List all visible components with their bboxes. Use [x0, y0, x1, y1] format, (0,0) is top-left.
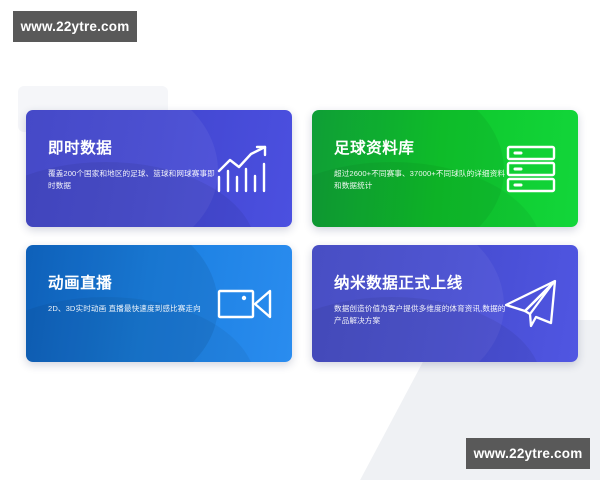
card-live-data[interactable]: 即时数据 覆盖200个国家和地区的足球、篮球和网球赛事即时数据 [26, 110, 292, 227]
card-text-block: 即时数据 覆盖200个国家和地区的足球、篮球和网球赛事即时数据 [48, 140, 220, 193]
feature-card-grid: 即时数据 覆盖200个国家和地区的足球、篮球和网球赛事即时数据 [26, 110, 578, 362]
card-text-block: 纳米数据正式上线 数据创造价值为客户提供多维度的体育资讯,数据的产品解决方案 [334, 275, 506, 328]
card-text-block: 动画直播 2D、3D实时动画 直播最快速度到感比赛走向 [48, 275, 220, 315]
card-title: 纳米数据正式上线 [334, 275, 506, 292]
server-stack-icon [500, 141, 562, 197]
bar-chart-growth-icon [214, 141, 276, 197]
card-description: 2D、3D实时动画 直播最快速度到感比赛走向 [48, 303, 220, 315]
card-description: 覆盖200个国家和地区的足球、篮球和网球赛事即时数据 [48, 168, 220, 193]
card-title: 动画直播 [48, 275, 220, 292]
card-text-block: 足球资料库 超过2600+不同赛事、37000+不同球队的详细资料和数据统计 [334, 140, 506, 193]
card-description: 数据创造价值为客户提供多维度的体育资讯,数据的产品解决方案 [334, 303, 506, 328]
card-title: 即时数据 [48, 140, 220, 157]
page-canvas: www.22ytre.com www.22ytre.com 即时数据 覆盖200… [0, 0, 600, 480]
watermark-top: www.22ytre.com [13, 11, 137, 42]
card-title: 足球资料库 [334, 140, 506, 157]
watermark-bottom: www.22ytre.com [466, 438, 590, 469]
paper-plane-icon [500, 276, 562, 332]
card-football-db[interactable]: 足球资料库 超过2600+不同赛事、37000+不同球队的详细资料和数据统计 [312, 110, 578, 227]
card-description: 超过2600+不同赛事、37000+不同球队的详细资料和数据统计 [334, 168, 506, 193]
video-camera-icon [214, 276, 276, 332]
card-nami-data[interactable]: 纳米数据正式上线 数据创造价值为客户提供多维度的体育资讯,数据的产品解决方案 [312, 245, 578, 362]
card-animation-live[interactable]: 动画直播 2D、3D实时动画 直播最快速度到感比赛走向 [26, 245, 292, 362]
